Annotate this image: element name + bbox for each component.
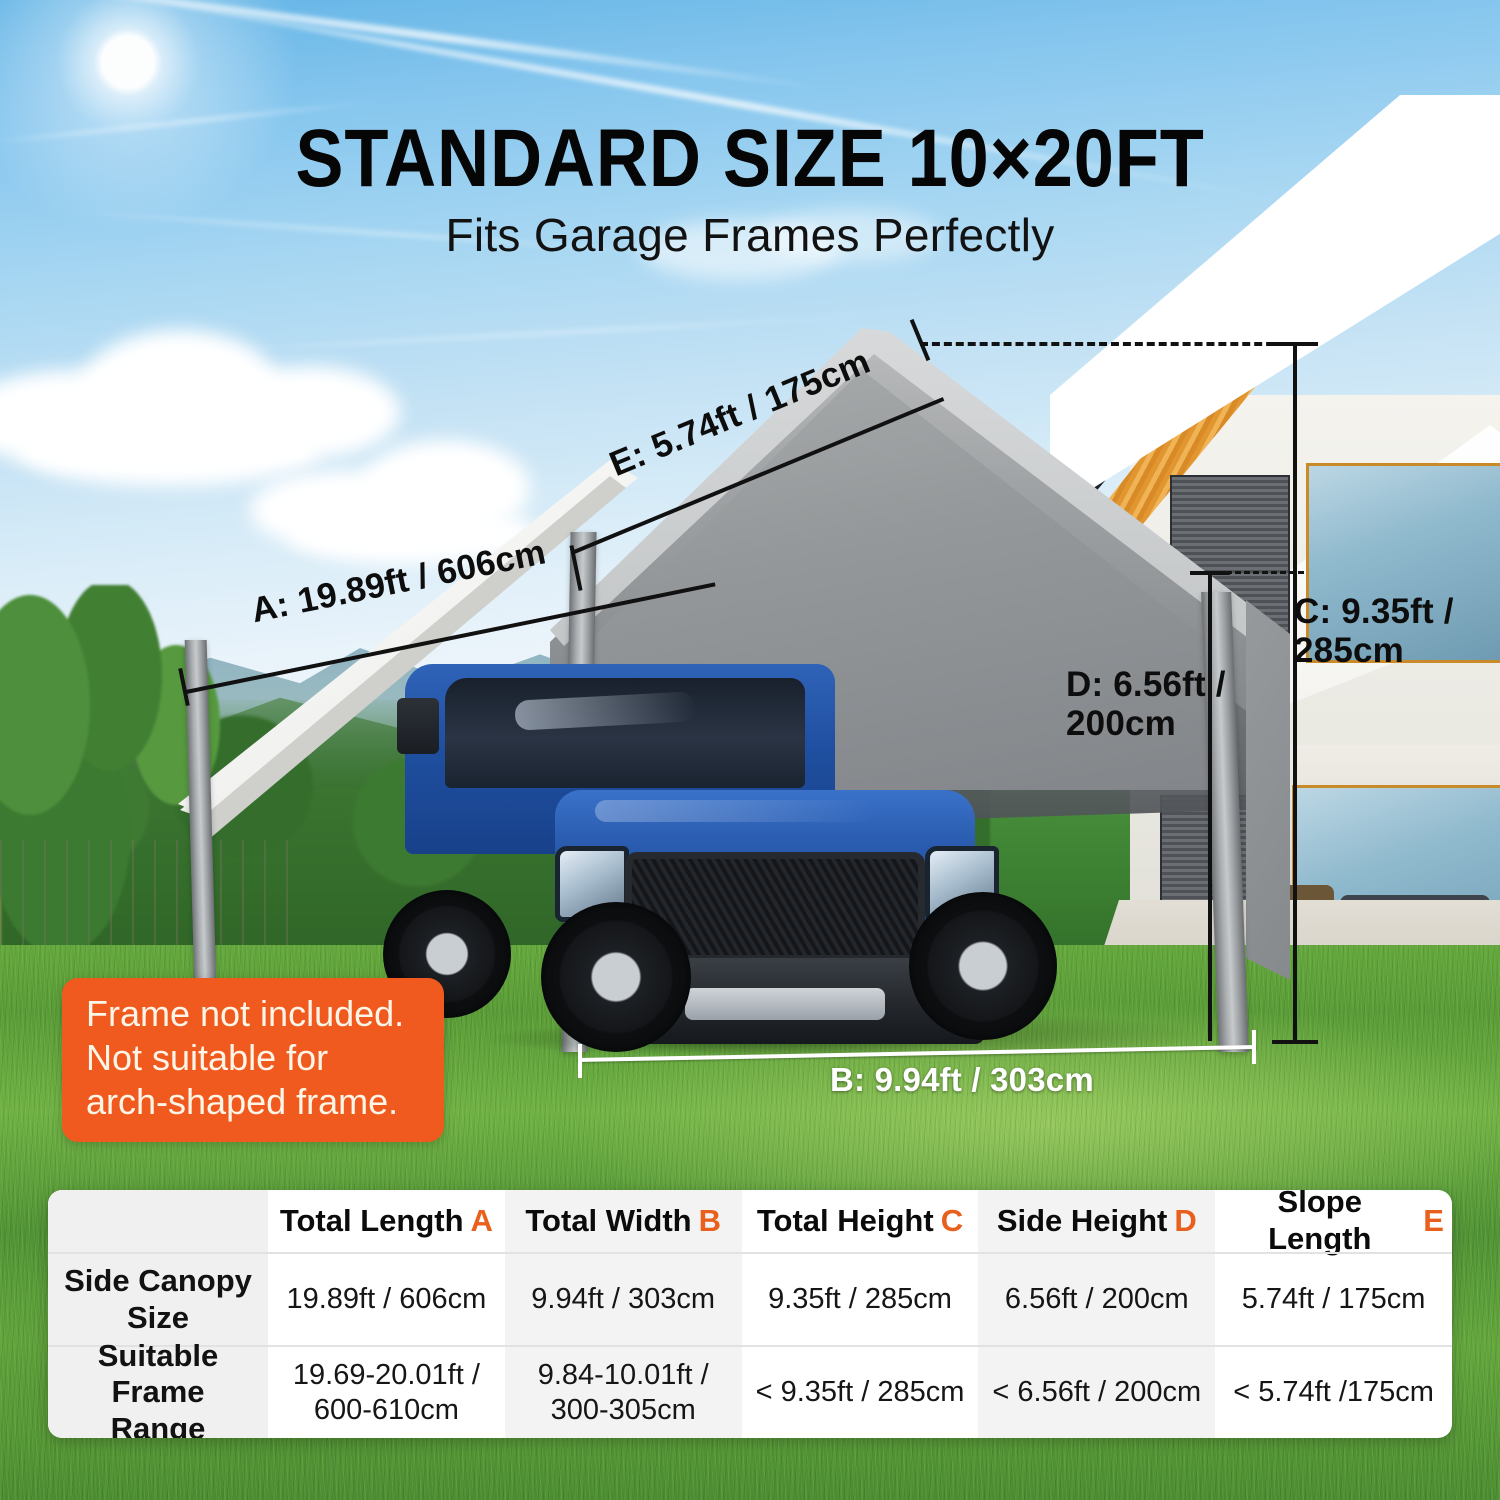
page-title: STANDARD SIZE 10×20FT bbox=[90, 112, 1410, 206]
table-row: Suitable Frame Range 19.69-20.01ft / 600… bbox=[48, 1345, 1452, 1438]
cell-frame-length: 19.69-20.01ft / 600-610cm bbox=[268, 1347, 505, 1438]
cell-canopy-height: 9.35ft / 285cm bbox=[742, 1254, 979, 1345]
cell-canopy-side-height: 6.56ft / 200cm bbox=[978, 1254, 1215, 1345]
dimension-label-b: B: 9.94ft / 303cm bbox=[830, 1062, 1094, 1099]
table-header-a-title: Total Length bbox=[280, 1203, 464, 1240]
table-header-e-letter: E bbox=[1423, 1203, 1444, 1240]
dimension-tick-d-top bbox=[1190, 571, 1230, 575]
row-label-suitable-frame-range: Suitable Frame Range bbox=[48, 1347, 268, 1438]
truck-wheel bbox=[909, 892, 1057, 1040]
hood-gleam bbox=[595, 800, 875, 822]
row-label-side-canopy-size: Side Canopy Size bbox=[48, 1254, 268, 1345]
cell-frame-height: < 9.35ft / 285cm bbox=[742, 1347, 979, 1438]
table-header-b-letter: B bbox=[699, 1203, 721, 1240]
dimension-line-d bbox=[1208, 571, 1212, 1041]
disclaimer-callout: Frame not included. Not suitable for arc… bbox=[62, 978, 444, 1142]
table-header-corner bbox=[48, 1190, 268, 1252]
truck-wheel bbox=[541, 902, 691, 1052]
cell-frame-width: 9.84-10.01ft / 300-305cm bbox=[505, 1347, 742, 1438]
table-header-c: Total HeightC bbox=[742, 1190, 979, 1252]
cell-canopy-slope-length: 5.74ft / 175cm bbox=[1215, 1254, 1452, 1345]
table-header-d: Side HeightD bbox=[978, 1190, 1215, 1252]
dashed-height-guide-top bbox=[920, 342, 1298, 346]
dimension-tick-c-bottom bbox=[1272, 1040, 1318, 1044]
table-header-a: Total LengthA bbox=[268, 1190, 505, 1252]
table-header-c-letter: C bbox=[941, 1203, 963, 1240]
table-header-e: Slope LengthE bbox=[1215, 1190, 1452, 1252]
infographic-canvas: A: 19.89ft / 606cm E: 5.74ft / 175cm C: … bbox=[0, 0, 1500, 1500]
table-header-d-letter: D bbox=[1174, 1203, 1196, 1240]
skid-plate bbox=[685, 988, 885, 1020]
table-header-d-title: Side Height bbox=[997, 1203, 1168, 1240]
side-mirror bbox=[397, 698, 439, 754]
table-header-b: Total WidthB bbox=[505, 1190, 742, 1252]
dimension-tick-b-start bbox=[578, 1044, 582, 1078]
spec-table: Total LengthA Total WidthB Total HeightC… bbox=[48, 1190, 1452, 1438]
table-header-e-title: Slope Length bbox=[1223, 1190, 1416, 1258]
cell-canopy-length: 19.89ft / 606cm bbox=[268, 1254, 505, 1345]
cell-canopy-width: 9.94ft / 303cm bbox=[505, 1254, 742, 1345]
dimension-line-c bbox=[1293, 342, 1297, 1042]
table-row: Side Canopy Size 19.89ft / 606cm 9.94ft … bbox=[48, 1252, 1452, 1345]
page-subtitle: Fits Garage Frames Perfectly bbox=[0, 208, 1500, 262]
table-header-b-title: Total Width bbox=[525, 1203, 691, 1240]
cell-frame-slope-length: < 5.74ft /175cm bbox=[1215, 1347, 1452, 1438]
dimension-label-c: C: 9.35ft / 285cm bbox=[1294, 592, 1454, 670]
dimension-label-d: D: 6.56ft / 200cm bbox=[1066, 665, 1226, 743]
table-header-row: Total LengthA Total WidthB Total HeightC… bbox=[48, 1190, 1452, 1252]
dimension-tick-b-end bbox=[1252, 1030, 1256, 1064]
cell-frame-side-height: < 6.56ft / 200cm bbox=[978, 1347, 1215, 1438]
table-header-a-letter: A bbox=[471, 1203, 493, 1240]
dimension-tick-c-top bbox=[1272, 342, 1318, 346]
table-header-c-title: Total Height bbox=[757, 1203, 934, 1240]
blue-pickup-truck bbox=[385, 640, 1065, 1040]
